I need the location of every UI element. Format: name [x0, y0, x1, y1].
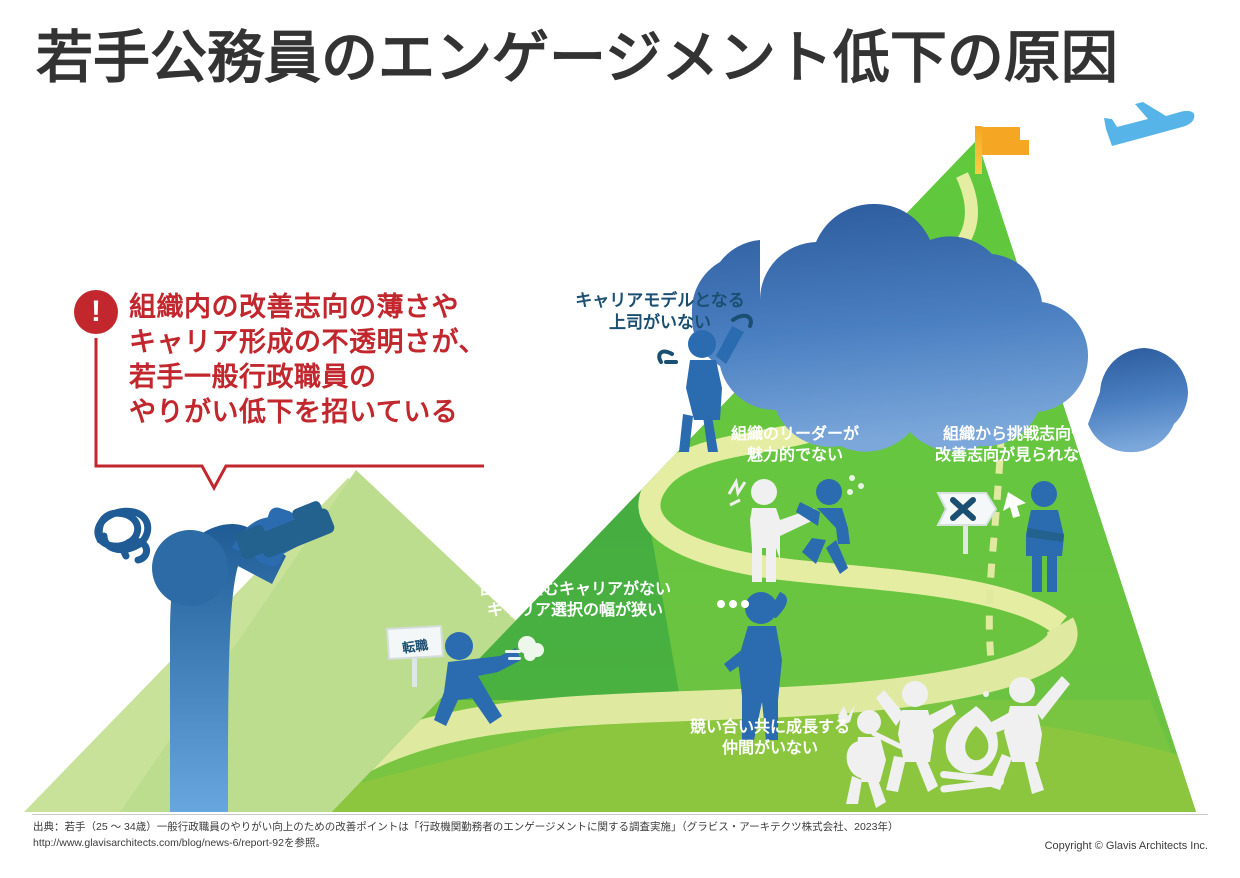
source-line-1: 出典：若手（25 〜 34歳）一般行政職員のやりがい向上のための改善ポイントは「…: [33, 820, 813, 836]
infographic-canvas: 若手公務員のエンゲージメント低下の原因 ! 組織内の改善志向の薄さや キャリア形…: [0, 0, 1240, 878]
label-no-desired-career: 自身の望むキャリアがない キャリア選択の幅が狭い: [440, 580, 710, 622]
thought-scribble-icon: [98, 511, 148, 560]
footer-divider: [32, 814, 1208, 815]
label-career-model: キャリアモデルとなる 上司がいない: [560, 290, 760, 334]
source-line-2: http://www.glavisarchitects.com/blog/new…: [33, 836, 813, 852]
copyright-note: Copyright © Glavis Architects Inc.: [1045, 840, 1208, 852]
page-title: 若手公務員のエンゲージメント低下の原因: [36, 26, 1118, 92]
thinking-dots-icon: [717, 600, 749, 608]
airplane-icon: [1104, 102, 1194, 146]
label-no-growth-peers: 競い合い共に成長する 仲間がいない: [650, 718, 890, 760]
source-note: 出典：若手（25 〜 34歳）一般行政職員のやりがい向上のための改善ポイントは「…: [33, 820, 813, 852]
callout-bracket: [74, 288, 504, 503]
label-no-challenge-mindset: 組織から挑戦志向や 改善志向が見られない: [905, 425, 1125, 467]
label-unattractive-leader: 組織のリーダーが 魅力的でない: [700, 425, 890, 467]
